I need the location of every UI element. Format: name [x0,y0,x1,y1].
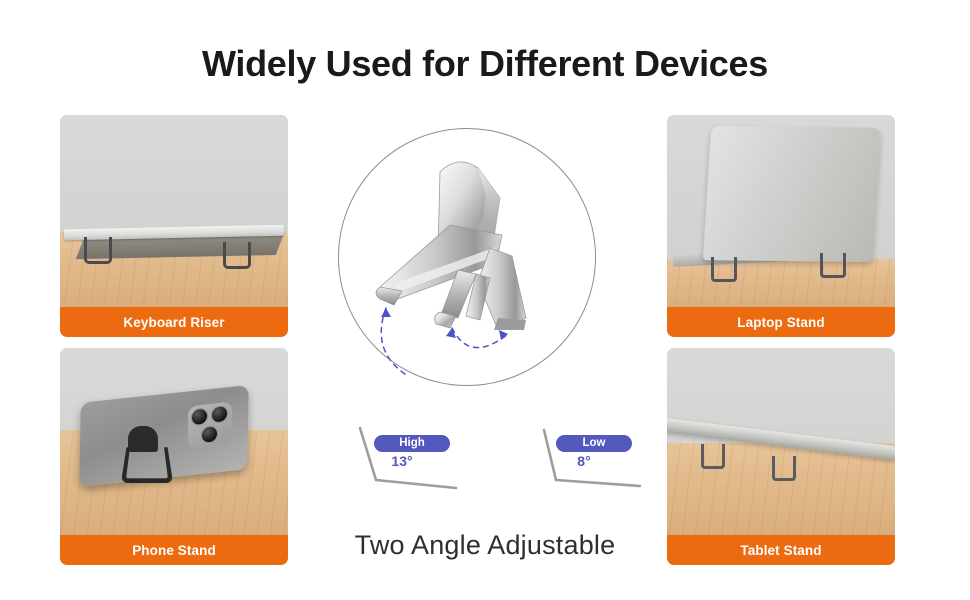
stand-leg-left [84,237,112,264]
stand-leg-right [772,456,796,481]
camera-lens-icon [201,425,218,444]
angle-value-high: 13° [374,453,430,469]
stand-leg-left [711,257,737,282]
panel-label-laptop-stand: Laptop Stand [667,307,895,337]
keyboard-riser-photo [60,115,288,307]
angle-indicators: High 13° Low 8° [338,424,638,496]
laptop-lid [703,126,881,262]
wooden-desk [667,259,895,307]
panel-keyboard-riser[interactable]: Keyboard Riser [60,115,288,337]
camera-module [188,401,232,448]
phone-stand-photo [60,348,288,535]
angle-indicator-high: High 13° [346,424,470,496]
angle-badge-high: High [374,435,450,452]
angle-value-low: 8° [556,453,612,469]
angle-badge-low: Low [556,435,632,452]
angle-indicator-low: Low 8° [528,424,652,496]
stand-leg-right [223,242,251,269]
panel-label-keyboard-riser: Keyboard Riser [60,307,288,337]
stand-leg-left [701,444,725,469]
camera-lens-icon [191,407,208,426]
tablet-stand-photo [667,348,895,535]
product-circle-outline [338,128,596,386]
stand-leg-right [820,253,846,278]
camera-lens-icon [211,405,228,424]
panel-laptop-stand[interactable]: Laptop Stand [667,115,895,337]
laptop-stand-photo [667,115,895,307]
center-caption: Two Angle Adjustable [0,530,970,561]
phone-stand-arm [121,447,173,483]
page-title: Widely Used for Different Devices [0,42,970,86]
